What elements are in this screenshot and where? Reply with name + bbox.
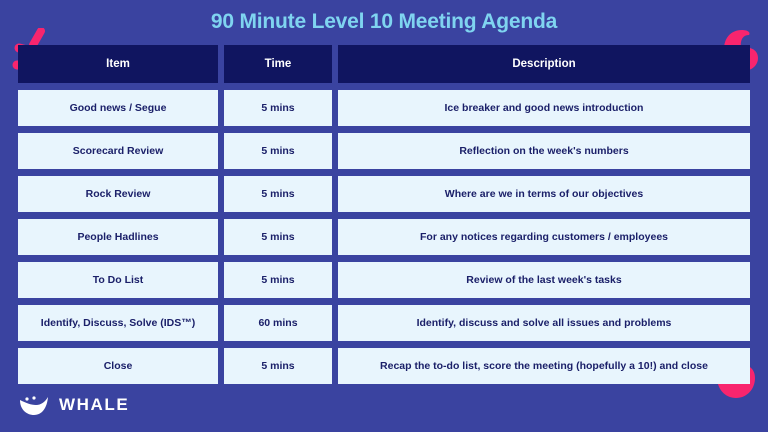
cell-time: 5 mins <box>224 219 332 255</box>
agenda-table: Item Time Description Good news / Segue … <box>18 45 750 384</box>
table-header-row: Item Time Description <box>18 45 750 83</box>
cell-description: Where are we in terms of our objectives <box>338 176 750 212</box>
cell-description: Recap the to-do list, score the meeting … <box>338 348 750 384</box>
cell-item: Rock Review <box>18 176 218 212</box>
cell-item: People Hadlines <box>18 219 218 255</box>
cell-time: 5 mins <box>224 176 332 212</box>
page-title: 90 Minute Level 10 Meeting Agenda <box>0 9 768 35</box>
cell-time: 60 mins <box>224 305 332 341</box>
table-row: Identify, Discuss, Solve (IDS™) 60 mins … <box>18 305 750 341</box>
cell-description: Reflection on the week's numbers <box>338 133 750 169</box>
cell-item: Identify, Discuss, Solve (IDS™) <box>18 305 218 341</box>
table-row: Close 5 mins Recap the to-do list, score… <box>18 348 750 384</box>
cell-time: 5 mins <box>224 262 332 298</box>
brand-logo: WHALE <box>18 394 129 416</box>
cell-item: Good news / Segue <box>18 90 218 126</box>
table-row: Scorecard Review 5 mins Reflection on th… <box>18 133 750 169</box>
column-header-item: Item <box>18 45 218 83</box>
column-header-time: Time <box>224 45 332 83</box>
cell-time: 5 mins <box>224 133 332 169</box>
brand-name: WHALE <box>59 395 129 415</box>
cell-item: Scorecard Review <box>18 133 218 169</box>
table-row: Rock Review 5 mins Where are we in terms… <box>18 176 750 212</box>
cell-description: Identify, discuss and solve all issues a… <box>338 305 750 341</box>
cell-description: For any notices regarding customers / em… <box>338 219 750 255</box>
table-row: To Do List 5 mins Review of the last wee… <box>18 262 750 298</box>
whale-smile-icon <box>18 394 50 416</box>
cell-description: Ice breaker and good news introduction <box>338 90 750 126</box>
column-header-description: Description <box>338 45 750 83</box>
cell-description: Review of the last week's tasks <box>338 262 750 298</box>
cell-item: To Do List <box>18 262 218 298</box>
cell-time: 5 mins <box>224 90 332 126</box>
table-row: People Hadlines 5 mins For any notices r… <box>18 219 750 255</box>
cell-item: Close <box>18 348 218 384</box>
table-row: Good news / Segue 5 mins Ice breaker and… <box>18 90 750 126</box>
cell-time: 5 mins <box>224 348 332 384</box>
